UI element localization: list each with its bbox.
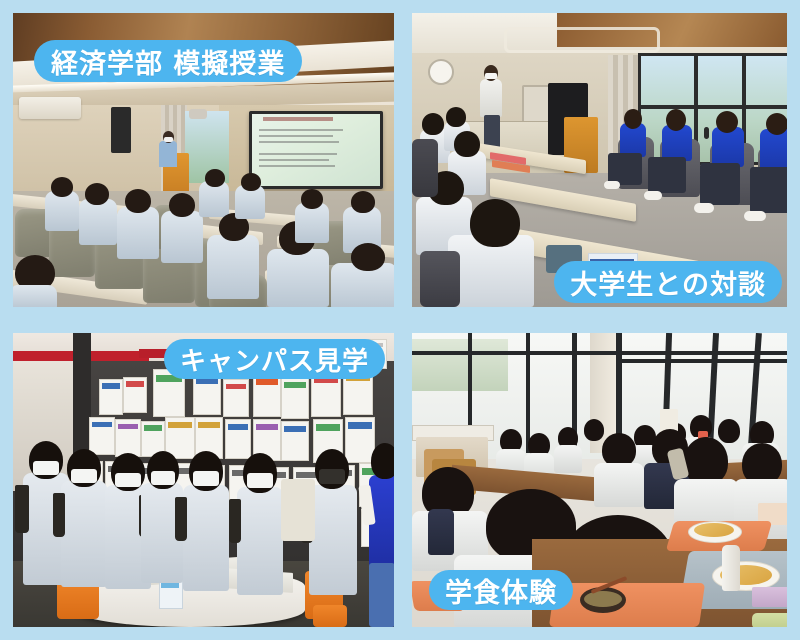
university-student-head — [624, 109, 642, 129]
student-body — [13, 285, 57, 307]
backpack-strap — [175, 497, 187, 541]
staff-body — [480, 79, 502, 117]
lecturer-mask — [164, 137, 173, 142]
highschool-student-head — [446, 107, 466, 127]
ceiling-light-frame — [504, 27, 660, 53]
slide-text-line — [259, 135, 333, 137]
highschool-student-head — [470, 199, 520, 247]
panel-label-talk: 大学生との対談 — [554, 261, 782, 303]
student-head — [125, 189, 151, 213]
student-body — [161, 211, 203, 263]
student-body — [594, 463, 644, 507]
slide-text-line — [259, 153, 337, 155]
face-mask — [247, 473, 273, 488]
face-mask — [33, 461, 59, 475]
university-student-legs — [648, 157, 686, 193]
student-head — [351, 243, 385, 271]
student-body — [45, 191, 79, 231]
face-mask — [115, 473, 141, 487]
university-student-body — [760, 129, 787, 171]
school-vest — [428, 509, 454, 555]
student-head — [241, 173, 261, 191]
university-student-legs — [750, 167, 787, 213]
projection-screen — [249, 111, 383, 189]
poster — [115, 419, 141, 457]
student-head — [301, 189, 323, 209]
university-student-head — [716, 111, 738, 133]
wall-clock — [428, 59, 454, 85]
slide-text-line — [259, 165, 335, 167]
student-body — [207, 235, 259, 299]
student-head — [684, 437, 728, 485]
shoe — [694, 203, 714, 213]
student-body — [267, 249, 329, 307]
student-head — [205, 169, 225, 187]
outside-greenery — [412, 339, 508, 391]
orange-chair — [313, 605, 347, 627]
slide-text-line — [259, 159, 329, 161]
poster — [281, 377, 309, 419]
projector — [189, 109, 207, 119]
chair-back — [420, 251, 460, 307]
photo-panel-campus[interactable]: キャンパス見学 — [13, 333, 394, 627]
student-head — [351, 191, 375, 213]
window-mullion — [616, 359, 787, 363]
panel-label-cafeteria: 学食体験 — [429, 570, 573, 610]
poster — [89, 417, 115, 455]
university-student-body — [712, 127, 744, 167]
poster — [193, 373, 221, 415]
folded-napkin — [752, 587, 787, 607]
poster — [123, 377, 147, 413]
student-body — [117, 207, 159, 259]
photo-collage: 経済学部 模擬授業 — [0, 0, 800, 640]
water-bottle — [722, 545, 740, 591]
air-conditioner — [19, 97, 81, 119]
shoe — [644, 191, 662, 200]
lecturer-body — [159, 141, 177, 167]
food-tray — [752, 613, 787, 627]
student-body — [309, 485, 357, 595]
shoe — [744, 211, 766, 221]
chair-back — [412, 139, 438, 197]
student-body — [183, 485, 229, 591]
staff-mask — [485, 73, 497, 79]
meal — [694, 523, 734, 537]
window-mullion — [638, 105, 787, 109]
window-mullion — [526, 333, 530, 453]
university-student-legs — [700, 163, 740, 205]
slide-title-line — [263, 117, 333, 121]
student-body — [554, 445, 582, 473]
poster — [281, 421, 309, 461]
table-card-header — [161, 583, 179, 588]
slide-text-line — [259, 141, 339, 143]
guide-head — [371, 443, 394, 479]
panel-label-campus: キャンパス見学 — [164, 339, 385, 379]
poster — [223, 379, 249, 417]
student-head — [718, 419, 740, 443]
highschool-student-head — [454, 131, 480, 157]
student-body — [237, 487, 283, 595]
student-head — [602, 433, 636, 467]
student-head — [85, 183, 109, 205]
face-mask — [151, 471, 175, 485]
university-student-head — [666, 109, 686, 131]
student-head — [51, 177, 73, 197]
photo-panel-talk[interactable]: 大学生との対談 — [412, 13, 787, 307]
face-mask — [319, 469, 345, 484]
backpack-strap — [229, 499, 241, 543]
shoe — [604, 181, 620, 189]
photo-panel-cafeteria[interactable]: 学食体験 — [412, 333, 787, 627]
guide-legs — [369, 563, 394, 627]
highschool-student-head — [422, 113, 444, 135]
poster — [225, 419, 251, 459]
face-mask — [193, 471, 219, 486]
panel-label-lecture: 経済学部 模擬授業 — [34, 40, 302, 82]
noodles — [584, 591, 622, 607]
backpack-strap — [53, 493, 65, 537]
poster — [253, 373, 281, 417]
student-body — [61, 481, 107, 587]
slide-text-line — [259, 129, 343, 131]
microphone — [704, 127, 709, 139]
photo-panel-lecture[interactable]: 経済学部 模擬授業 — [13, 13, 394, 307]
speaker-column — [111, 107, 131, 153]
student-head — [584, 419, 604, 441]
tote-bag — [281, 479, 315, 541]
student-head — [169, 193, 195, 217]
university-student-head — [766, 113, 787, 135]
face-mask — [71, 469, 97, 483]
student-body — [79, 199, 117, 245]
student-body — [295, 203, 329, 243]
poster — [99, 379, 123, 415]
backpack-strap — [15, 485, 29, 533]
